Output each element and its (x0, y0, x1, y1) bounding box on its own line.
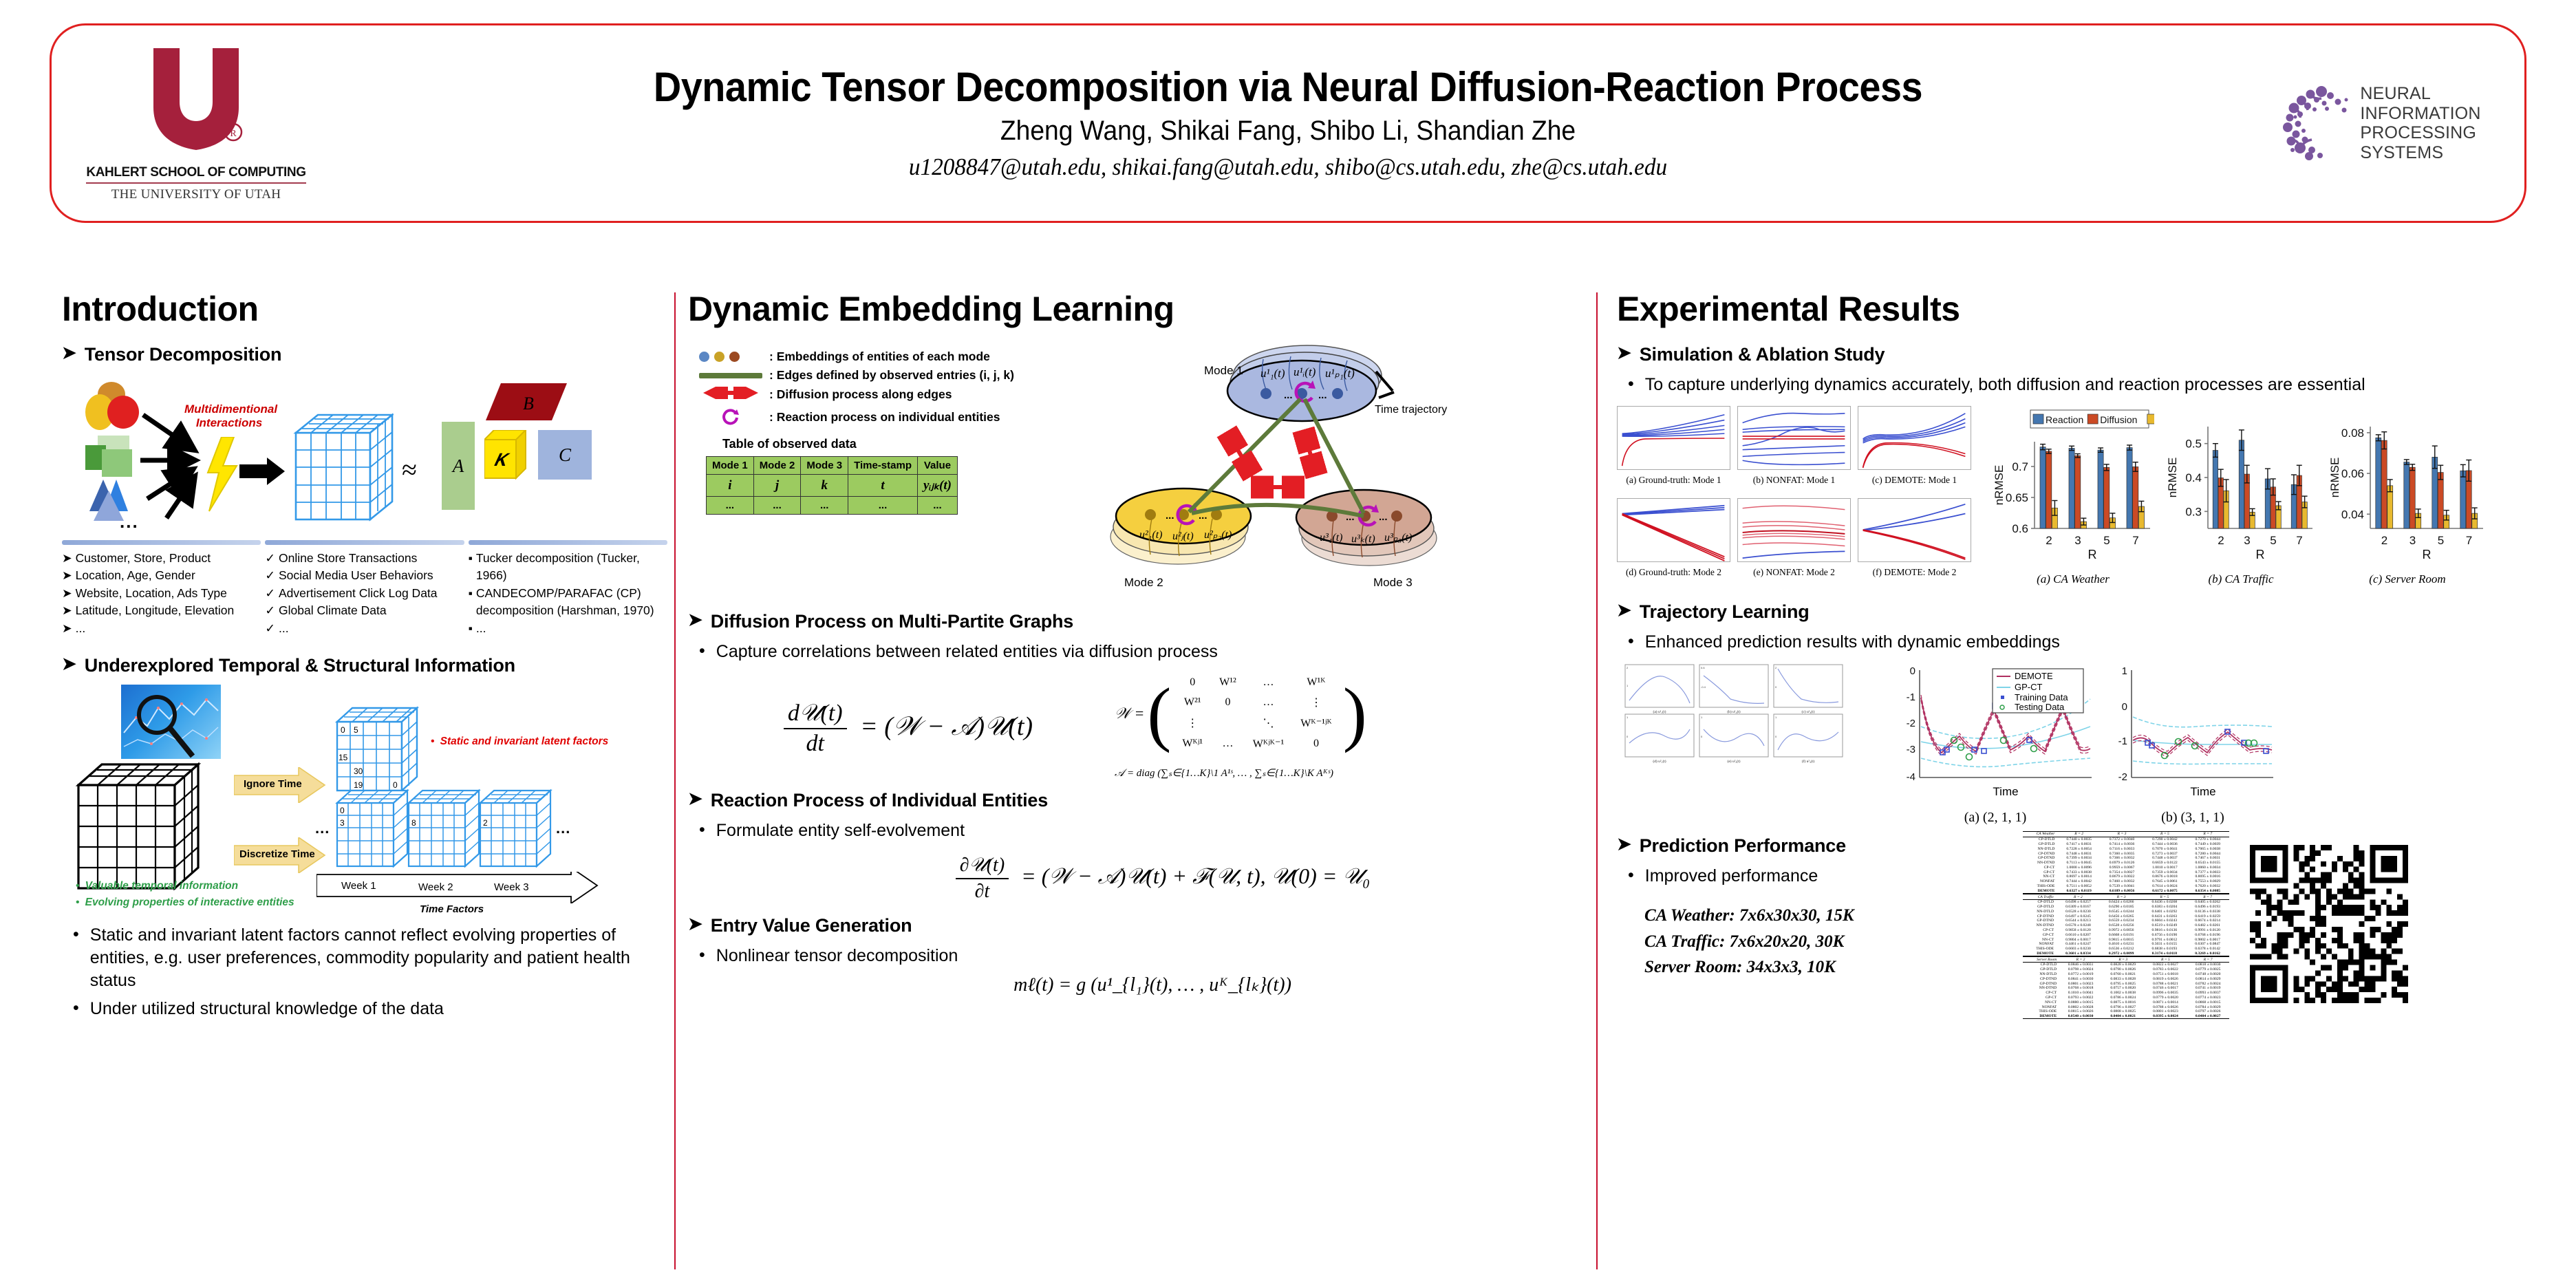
svg-text:(b) u¹₂(t): (b) u¹₂(t) (1727, 709, 1740, 714)
list-item: ➤Customer, Store, Product (62, 550, 261, 567)
performance-tables: CA WeatherR = 2R = 3R = 5R = 7CP-DTLD0.7… (2023, 831, 2229, 1019)
svg-text:30: 30 (354, 766, 363, 776)
svg-text:0: 0 (1775, 685, 1777, 689)
temporal-structural-figure: Ignore Time Discretize Time (62, 685, 661, 912)
table-row: NN-DTLD0.6528 ± 0.02300.6545 ± 0.02440.6… (2023, 910, 2229, 914)
eq2-denominator: ∂t (956, 879, 1009, 903)
svg-text:(e) u²₂(t): (e) u²₂(t) (1728, 759, 1741, 764)
svg-text:0: 0 (340, 806, 345, 815)
school-name: KAHLERT SCHOOL OF COMPUTING (86, 165, 305, 184)
entity-square-midgreen (102, 449, 132, 477)
svg-text:0.6: 0.6 (2012, 522, 2028, 535)
check-icon: ✓ (265, 550, 275, 567)
lightning-bolt-icon (202, 437, 241, 513)
neurips-spiral-icon (2279, 85, 2356, 162)
datasets-list: ✓Online Store Transactions ✓Social Media… (265, 540, 464, 637)
list-item: ▪Tucker decomposition (Tucker, 1966) (469, 550, 667, 585)
title-block: Dynamic Tensor Decomposition via Neural … (341, 65, 2235, 181)
trajectory-bullet: • Enhanced prediction results with dynam… (1628, 631, 2539, 654)
eq1-denominator: dt (784, 729, 847, 757)
list-item: ➤... (62, 620, 261, 637)
embedding-trajectory-thumbnails: 210.6-0.4 20 1010 10 (a) u¹₁(t)(b) u¹₂(t… (1617, 661, 1858, 767)
bullet-dot-icon: • (1628, 631, 1634, 654)
table-row: GP-DTND0.7399 ± 0.00340.7366 ± 0.00320.7… (2023, 856, 2229, 861)
multidimensional-interactions-label: Multidimentional Interactions (184, 402, 274, 431)
poster-header: R KAHLERT SCHOOL OF COMPUTING THE UNIVER… (50, 23, 2526, 223)
section-title-results: Experimental Results (1617, 289, 2539, 329)
svg-text:...: ... (1318, 389, 1327, 401)
table-row: NN-DTLD0.0772 ± 0.00190.0760 ± 0.00210.0… (2023, 972, 2229, 977)
arrow-bullet-icon: ➤ (688, 790, 702, 808)
arrow-bullet-icon: ➤ (62, 550, 72, 567)
table-row: CP-DTND0.6497 ± 0.02450.6456 ± 0.02650.6… (2023, 914, 2229, 919)
time-factors-label: Time Factors (420, 903, 484, 915)
diffusion-arrow-icon (699, 387, 762, 402)
svg-text:2: 2 (2046, 534, 2052, 547)
multipartite-graph-icon: ...... u¹₁(t) u¹ᵢ(t) u¹ₚ₁(t) Time trajec… (1101, 344, 1493, 605)
author-list: Zheng Wang, Shikai Fang, Shibo Li, Shand… (420, 116, 2156, 147)
trajectory-plot-b: 10-1-2 (2107, 661, 2279, 826)
embedding-thumb-grid: 210.6-0.4 20 1010 10 (a) u¹₁(t)(b) u¹₂(t… (1617, 661, 1858, 764)
week3-cube-icon: 2 (477, 786, 555, 872)
list-item: ✓Social Media User Behaviors (265, 567, 464, 584)
subheading-simulation: ➤ Simulation & Ablation Study (1617, 344, 2539, 365)
page-title: Dynamic Tensor Decomposition via Neural … (420, 65, 2156, 110)
week1-cube-icon: 03 (334, 786, 411, 872)
table-row: NN-DTLD0.7228 ± 0.00540.7116 ± 0.00330.7… (2023, 846, 2229, 851)
matrix-A-equation: 𝒜 = diag (∑ₛ∈{1…K}\1 A¹ˢ, … , ∑ₛ∈{1…K}\K… (1115, 766, 1333, 780)
table-row: DEMOTE0.0540 ± 0.00300.0404 ± 0.00210.03… (2023, 1014, 2229, 1019)
list-item: ▪... (469, 620, 667, 637)
svg-text:Training Data: Training Data (2015, 692, 2068, 702)
ignore-time-label: Ignore Time (244, 778, 302, 790)
svg-text:0: 0 (1701, 735, 1703, 738)
svg-text:0: 0 (341, 725, 345, 735)
prediction-bullet: • Improved performance (1628, 865, 2002, 888)
bullet-dot-icon: • (1628, 374, 1634, 396)
svg-text:2: 2 (1775, 666, 1777, 669)
svg-text:Mode 1: Mode 1 (1204, 364, 1243, 377)
neurips-line-4: SYSTEMS (2360, 143, 2480, 163)
trajectory-plot-a: 0-1-2-3-4 (1892, 661, 2099, 826)
svg-text:15: 15 (339, 753, 348, 762)
arrow-bullet-icon: ➤ (1617, 835, 1631, 853)
table-row: CP-CT0.9858 ± 0.01200.9972 ± 0.00560.981… (2023, 928, 2229, 933)
source-tensor-cube-icon (74, 759, 212, 897)
sim-plot-d: (d) Ground-truth: Mode 2 (1617, 498, 1730, 586)
svg-text:3: 3 (340, 818, 345, 828)
entity-ellipsis: ... (120, 511, 139, 533)
sim-plot-e-svg (1737, 498, 1851, 562)
list-bar-3 (469, 540, 667, 545)
entry-value-equation: mℓ(t) = g (u¹_{l₁}(t), … , uᴷ_{lₖ}(t)) (709, 973, 1596, 996)
svg-text:Mode 2: Mode 2 (1124, 576, 1163, 589)
svg-text:5: 5 (354, 725, 358, 735)
static-tensor-cube-icon: 0515 30190 (334, 704, 424, 797)
utah-u-mark-icon: R (141, 44, 251, 161)
table-row: NN-DTND0.7113 ± 0.00450.6979 ± 0.01260.6… (2023, 861, 2229, 866)
square-bullet-icon: ▪ (469, 620, 473, 637)
svg-text:0: 0 (1775, 735, 1777, 738)
section-title-embedding: Dynamic Embedding Learning (688, 289, 1596, 329)
intro-bullet-1: • Static and invariant latent factors ca… (73, 924, 667, 992)
table-row: THIS-ODE0.7511 ± 0.00520.7539 ± 0.00410.… (2023, 884, 2229, 889)
bar-chart-ca-weather: 0.60.650.72357RnRMSEReactionDiffusionDEM… (1992, 406, 2154, 586)
methods-list: ▪Tucker decomposition (Tucker, 1966) ▪CA… (469, 540, 667, 637)
bar-chart-server-room: 0.040.060.082357RnRMSE (c) Server Room (2328, 406, 2487, 586)
svg-text:R: R (230, 129, 237, 139)
embedding-dots-icon (699, 352, 762, 362)
sim-plot-b: (b) NONFAT: Mode 1 (1737, 406, 1851, 494)
legend-reaction: : Reaction process on individual entitie… (699, 407, 1139, 427)
svg-text:2: 2 (1627, 666, 1629, 669)
eq2-rhs: = (𝒲 − 𝒜)𝒰(t) + ℱ(𝒰, t), 𝒰(0) = 𝒰₀ (1021, 863, 1370, 888)
arrow-bullet-icon: ➤ (62, 620, 72, 637)
svg-text:Reaction: Reaction (2046, 414, 2083, 425)
matrix-W-label: 𝒲 = (1115, 705, 1144, 722)
subheading-tensor-decomposition: ➤ Tensor Decomposition (62, 344, 667, 365)
list-item: ➤Location, Age, Gender (62, 567, 261, 584)
table-row: NN-DTND0.6578 ± 0.02480.6528 ± 0.02560.6… (2023, 923, 2229, 928)
trajectory-a-svg: 0-1-2-3-4 (1892, 661, 2099, 805)
svg-text:0.65: 0.65 (2006, 491, 2028, 504)
svg-text:0: 0 (1627, 735, 1629, 738)
entity-circle-red (107, 396, 139, 429)
table-row: NN-CT0.9804 ± 0.00170.9815 ± 0.00150.979… (2023, 937, 2229, 942)
results-column: Experimental Results ➤ Simulation & Abla… (1617, 289, 2539, 1019)
table-row: THIS-ODE0.6603 ± 0.02300.6536 ± 0.02120.… (2023, 947, 2229, 952)
check-icon: ✓ (265, 602, 275, 619)
svg-text:nRMSE: nRMSE (1993, 465, 2006, 506)
table-row: GP-DTND0.0801 ± 0.00230.0795 ± 0.00250.0… (2023, 981, 2229, 986)
neurips-logo: NEURAL INFORMATION PROCESSING SYSTEMS (2235, 84, 2524, 162)
performance-table: Server RoomR = 2R = 3R = 5R = 7CP-DTLD0.… (2023, 956, 2229, 1019)
svg-text:GP-CT: GP-CT (2015, 682, 2043, 692)
list-item: ➤Website, Location, Ads Type (62, 585, 261, 602)
svg-text:u³ₚ₃(t): u³ₚ₃(t) (1384, 532, 1412, 544)
dataset-line-3: Server Room: 34x3x3, 10K (1644, 954, 2002, 980)
table-header-row: Mode 1 Mode 2 Mode 3 Time-stamp Value (707, 457, 958, 475)
svg-text:R: R (2088, 548, 2097, 561)
svg-text:Time: Time (2190, 785, 2215, 798)
intro-bullet-2: • Under utilized structural knowledge of… (73, 998, 667, 1020)
svg-text:0.04: 0.04 (2341, 508, 2364, 521)
core-tensor-G-shape: 𝑲 (484, 430, 528, 481)
svg-text:8: 8 (411, 818, 416, 828)
svg-text:u²ₚ₂(t): u²ₚ₂(t) (1204, 529, 1232, 541)
arrow-bullet-icon: ➤ (62, 655, 76, 673)
neurips-line-3: PROCESSING (2360, 123, 2480, 143)
svg-text:0.6: 0.6 (1701, 666, 1705, 669)
svg-text:3: 3 (2244, 534, 2250, 547)
list-item: ✓Advertisement Click Log Data (265, 585, 464, 602)
trajectory-b-svg: 10-1-2 (2107, 661, 2279, 805)
qr-code[interactable] (2250, 845, 2408, 1019)
check-icon: ✓ (265, 620, 275, 637)
svg-text:-3: -3 (1907, 744, 1915, 755)
svg-text:R: R (2423, 548, 2432, 561)
list-item: ➤Latitude, Longitude, Elevation (62, 602, 261, 619)
bullet-dot-icon: • (699, 819, 705, 842)
dataset-line-2: CA Traffic: 7x6x20x20, 30K (1644, 929, 2002, 955)
table-row: NONFAT0.4461 ± 0.02470.4610 ± 0.02310.50… (2023, 942, 2229, 947)
simulation-bullet: • To capture underlying dynamics accurat… (1628, 374, 2419, 396)
eq2-numerator: ∂𝒰(t) (956, 855, 1009, 879)
check-icon: ✓ (265, 585, 275, 602)
edge-line-icon (699, 373, 762, 378)
reaction-bullet: • Formulate entity self-evolvement (699, 819, 1596, 842)
table-row: GP-CT0.7433 ± 0.00380.7354 ± 0.00270.735… (2023, 870, 2229, 874)
introduction-column: Introduction ➤ Tensor Decomposition ... … (62, 289, 667, 1026)
svg-text:...: ... (1379, 511, 1388, 523)
university-logo: R KAHLERT SCHOOL OF COMPUTING THE UNIVER… (52, 44, 341, 202)
svg-text:1: 1 (1701, 716, 1703, 719)
embedding-column: Dynamic Embedding Learning : Embeddings … (688, 289, 1596, 1009)
to-tensor-arrow-icon (239, 456, 288, 486)
svg-text:1: 1 (1775, 716, 1777, 719)
table-row: NONFAT0.7444 ± 0.00420.7460 ± 0.00320.76… (2023, 879, 2229, 884)
sim-plot-c: (c) DEMOTE: Mode 1 (1858, 406, 1971, 494)
list-bar-1 (62, 540, 261, 545)
static-note: • Static and invariant latent factors (431, 736, 608, 748)
reaction-equation: ∂𝒰(t) ∂t = (𝒲 − 𝒜)𝒰(t) + ℱ(𝒰, t), 𝒰(0) =… (729, 855, 1596, 903)
svg-text:1: 1 (1627, 716, 1629, 719)
svg-text:-1: -1 (1907, 691, 1915, 703)
svg-text:0.7: 0.7 (2012, 460, 2028, 473)
svg-text:1: 1 (1627, 684, 1629, 687)
arrow-bullet-icon: ➤ (62, 567, 72, 584)
svg-text:(a) u¹₁(t): (a) u¹₁(t) (1653, 709, 1666, 714)
table-row: CP-DTND0.7448 ± 0.00310.7360 ± 0.00350.7… (2023, 851, 2229, 856)
svg-text:u²ⱼ(t): u²ⱼ(t) (1172, 530, 1194, 542)
data-analysis-thumbnail (121, 685, 221, 759)
legend-embeddings: : Embeddings of entities of each mode (699, 350, 1139, 364)
list-item: ✓Global Climate Data (265, 602, 464, 619)
factor-matrix-C: C (538, 430, 592, 480)
svg-text:0: 0 (1910, 665, 1915, 677)
eq1-numerator: d𝒰(t) (784, 700, 847, 729)
svg-text:Diffusion: Diffusion (2100, 414, 2137, 425)
subheading-underexplored: ➤ Underexplored Temporal & Structural In… (62, 655, 667, 676)
sim-plot-c-svg (1858, 406, 1971, 470)
svg-text:0.3: 0.3 (2185, 505, 2202, 518)
svg-text:-2: -2 (2118, 771, 2127, 783)
svg-text:...: ... (1284, 389, 1293, 401)
svg-text:Time trajectory: Time trajectory (1375, 404, 1447, 416)
week2-cube-icon: 8 (406, 786, 483, 872)
bar-chart-ca-traffic: 0.30.40.52357RnRMSE (b) CA Traffic (2165, 406, 2317, 586)
square-bullet-icon: ▪ (469, 550, 473, 585)
table-row: GP-CT0.0793 ± 0.00220.0786 ± 0.00240.077… (2023, 996, 2229, 1000)
svg-text:R: R (2256, 548, 2265, 561)
svg-text:0.5: 0.5 (2185, 438, 2202, 451)
table-row: ... ... ... ... ... (707, 497, 958, 515)
bullet-dot-icon: • (1628, 865, 1634, 888)
factor-matrix-A: A (442, 422, 475, 510)
list-bar-2 (265, 540, 464, 545)
svg-text:nRMSE: nRMSE (2328, 458, 2341, 498)
table-row: NN-DTND0.0768 ± 0.00180.0757 ± 0.00200.0… (2023, 986, 2229, 991)
svg-text:5: 5 (2438, 534, 2444, 547)
svg-text:u³ₖ(t): u³ₖ(t) (1351, 533, 1375, 545)
svg-text:5: 5 (2103, 534, 2110, 547)
sim-plot-f-svg (1858, 498, 1971, 562)
svg-text:u¹₁(t): u¹₁(t) (1260, 367, 1285, 380)
table-row: DEMOTE0.3601 ± 0.03340.2972 ± 0.00990.31… (2023, 952, 2229, 956)
svg-text:B: B (523, 394, 534, 414)
svg-text:3: 3 (2409, 534, 2416, 547)
column-divider-2 (1596, 292, 1598, 1269)
svg-text:(f) u²₃(t): (f) u²₃(t) (1802, 759, 1815, 764)
check-icon: ✓ (265, 567, 275, 584)
neurips-line-2: INFORMATION (2360, 104, 2480, 124)
square-bullet-icon: ▪ (469, 585, 473, 620)
list-item: ✓... (265, 620, 464, 637)
svg-text:u²₁(t): u²₁(t) (1139, 529, 1162, 541)
green-note-1: •Valuable temporal information (76, 880, 238, 892)
subheading-diffusion: ➤ Diffusion Process on Multi-Partite Gra… (688, 611, 1596, 632)
arrow-bullet-icon: ➤ (688, 611, 702, 629)
svg-text:-4: -4 (1907, 771, 1915, 783)
list-item: ▪CANDECOMP/PARAFAC (CP) decomposition (H… (469, 585, 667, 620)
arrow-bullet-icon: ➤ (62, 585, 72, 602)
ablation-bar-charts: 0.60.650.72357RnRMSEReactionDiffusionDEM… (1992, 406, 2487, 586)
svg-text:u¹ₚ₁(t): u¹ₚ₁(t) (1325, 367, 1355, 380)
svg-text:-1: -1 (2118, 736, 2127, 747)
column-divider-1 (674, 292, 676, 1269)
diffusion-bullet: • Capture correlations between related e… (699, 641, 1596, 663)
subheading-reaction: ➤ Reaction Process of Individual Entitie… (688, 790, 1596, 811)
green-note-2: •Evolving properties of interactive enti… (76, 897, 294, 909)
section-title-introduction: Introduction (62, 289, 667, 329)
arrow-bullet-icon: ➤ (62, 602, 72, 619)
table-row: NONFAT0.0802 ± 0.00280.0796 ± 0.00270.07… (2023, 1005, 2229, 1009)
discretize-time-label: Discretize Time (239, 848, 315, 860)
svg-text:-2: -2 (1907, 718, 1915, 729)
table-row: NN-CT0.8697 ± 0.00140.8679 ± 0.00220.867… (2023, 874, 2229, 879)
left-paren: ( (1147, 685, 1171, 742)
svg-text:1: 1 (2122, 665, 2127, 677)
svg-text:2: 2 (2218, 534, 2224, 547)
sim-plot-b-svg (1737, 406, 1851, 470)
tensor-decomposition-figure: ... Multidimentional Interactions (62, 376, 654, 535)
svg-text:2: 2 (483, 818, 488, 828)
table-row: CP-CT1.0000 ± 0.00960.9959 ± 0.00671.001… (2023, 865, 2229, 870)
svg-text:5: 5 (2270, 534, 2276, 547)
eq1-rhs: = (𝒲 − 𝒜)𝒰(t) (860, 712, 1033, 741)
performance-table: CA WeatherR = 2R = 3R = 5R = 7CP-DTLD0.7… (2023, 831, 2229, 894)
trajectory-legend: DEMOTE GP-CT Training Data Testing Data (1993, 669, 2083, 713)
svg-text:nRMSE: nRMSE (2166, 458, 2179, 498)
arrow-bullet-icon: ➤ (62, 344, 76, 362)
eq3: mℓ(t) = g (u¹_{l₁}(t), … , uᴷ_{lₖ}(t)) (1013, 973, 1291, 996)
bullet-dot-icon: • (73, 998, 79, 1020)
trajectory-plots: 0-1-2-3-4 (1892, 661, 2279, 826)
legend-diffusion: : Diffusion process along edges (699, 387, 1139, 402)
simulation-plot-grid: (a) Ground-truth: Mode 1 (b) NONFAT: Mod… (1617, 406, 1971, 586)
subheading-entry-value: ➤ Entry Value Generation (688, 915, 1596, 936)
arrow-bullet-icon: ➤ (1617, 344, 1631, 362)
entities-list: ➤Customer, Store, Product ➤Location, Age… (62, 540, 261, 637)
sim-plot-e: (e) NONFAT: Mode 2 (1737, 498, 1851, 586)
sim-plot-d-svg (1617, 498, 1730, 562)
bullet-dot-icon: • (699, 945, 705, 967)
observed-data-table: Mode 1 Mode 2 Mode 3 Time-stamp Value i … (706, 456, 958, 515)
subheading-prediction: ➤ Prediction Performance (1617, 835, 2002, 857)
svg-text:0.06: 0.06 (2341, 467, 2364, 480)
reaction-loop-icon (699, 407, 762, 427)
list-item: ✓Online Store Transactions (265, 550, 464, 567)
week-ellipsis-left: ... (315, 819, 330, 837)
table-row: CP-CT0.1010 ± 0.00410.1002 ± 0.00380.099… (2023, 991, 2229, 996)
table-row: THIS-ODE0.0815 ± 0.00260.0808 ± 0.00250.… (2023, 1009, 2229, 1014)
tensor-cube-icon (290, 411, 394, 528)
bullet-dot-icon: • (73, 924, 79, 992)
svg-text:Mode 3: Mode 3 (1373, 576, 1413, 589)
svg-text:(c) u¹₃(t): (c) u¹₃(t) (1802, 709, 1815, 714)
week1-label: Week 1 (341, 880, 376, 892)
matrix-W-body: 0W¹²…W¹ᴷ W²¹0…⋮ ⋮⋱Wᴷ⁻¹ʲᴷ Wᴷʲ¹…Wᴷʲᴷ⁻¹0 (1174, 673, 1340, 754)
svg-text:7: 7 (2466, 534, 2472, 547)
svg-text:Testing Data: Testing Data (2015, 702, 2065, 712)
table-row: NN-CT0.0880 ± 0.00150.0875 ± 0.00160.087… (2023, 1000, 2229, 1005)
svg-text:(d) u²₁(t): (d) u²₁(t) (1653, 759, 1666, 764)
dataset-line-1: CA Weather: 7x6x30x30, 15K (1644, 903, 2002, 929)
table-row: DEMOTE0.6327 ± 0.01190.6109 ± 0.00560.61… (2023, 888, 2229, 893)
week2-label: Week 2 (418, 881, 453, 893)
svg-text:0.4: 0.4 (2185, 471, 2202, 484)
arrow-bullet-icon: ➤ (1617, 601, 1631, 619)
table-row: GP-CT0.6610 ± 0.02070.6668 ± 0.01910.675… (2023, 932, 2229, 937)
week3-label: Week 3 (494, 881, 529, 893)
matrix-W-display: 𝒲 = ( 0W¹²…W¹ᴷ W²¹0…⋮ ⋮⋱Wᴷ⁻¹ʲᴷ Wᴷʲ¹…Wᴷʲᴷ… (1115, 673, 1367, 754)
arrow-bullet-icon: ➤ (688, 915, 702, 933)
diffusion-equation: d𝒰(t) dt = (𝒲 − 𝒜)𝒰(t) (716, 700, 1101, 757)
svg-text:7: 7 (2296, 534, 2302, 547)
table-row: i j k t yᵢⱼₖ(t) (707, 475, 958, 497)
factor-matrix-B-shape: B (486, 383, 568, 423)
table-row: GP-DTLD0.6309 ± 0.01670.6290 ± 0.01850.6… (2023, 905, 2229, 910)
legend-edges: : Edges defined by observed entries (i, … (699, 368, 1139, 383)
neurips-line-1: NEURAL (2360, 84, 2480, 104)
sim-plot-f: (f) DEMOTE: Mode 2 (1858, 498, 1971, 586)
university-name: THE UNIVERSITY OF UTAH (111, 187, 281, 202)
subheading-trajectory: ➤ Trajectory Learning (1617, 601, 2539, 623)
bullet-dot-icon: • (699, 641, 705, 663)
table-row: CP-DTLD0.0846 ± 0.00310.0828 ± 0.00290.0… (2023, 963, 2229, 967)
right-paren: ) (1343, 685, 1367, 742)
table-row: GP-DTLD0.0798 ± 0.00240.0790 ± 0.00260.0… (2023, 967, 2229, 972)
svg-text:0: 0 (2122, 701, 2127, 713)
svg-text:3: 3 (2074, 534, 2081, 547)
svg-text:...: ... (1166, 510, 1174, 522)
svg-text:Time: Time (1993, 785, 2018, 798)
sim-plot-a: (a) Ground-truth: Mode 1 (1617, 406, 1730, 494)
sim-plot-a-svg (1617, 406, 1730, 470)
observed-table-title: Table of observed data (722, 437, 1139, 451)
performance-table: CA TrafficR = 2R = 3R = 5R = 7CP-DTLD0.6… (2023, 894, 2229, 956)
table-row: GP-DTLD0.7417 ± 0.00310.7414 ± 0.00360.7… (2023, 842, 2229, 847)
week-ellipsis-right: ... (556, 819, 570, 837)
table-row: CP-DTLD0.6498 ± 0.02570.6424 ± 0.02660.6… (2023, 899, 2229, 904)
svg-text:0.08: 0.08 (2341, 427, 2364, 440)
approx-sign: ≈ (402, 453, 417, 486)
intro-three-lists: ➤Customer, Store, Product ➤Location, Age… (62, 540, 667, 637)
svg-text:u¹ᵢ(t): u¹ᵢ(t) (1294, 365, 1316, 378)
svg-text:2: 2 (2381, 534, 2387, 547)
table-row: GP-DTND0.6544 ± 0.02130.6559 ± 0.02340.6… (2023, 919, 2229, 923)
svg-text:7: 7 (2132, 534, 2138, 547)
